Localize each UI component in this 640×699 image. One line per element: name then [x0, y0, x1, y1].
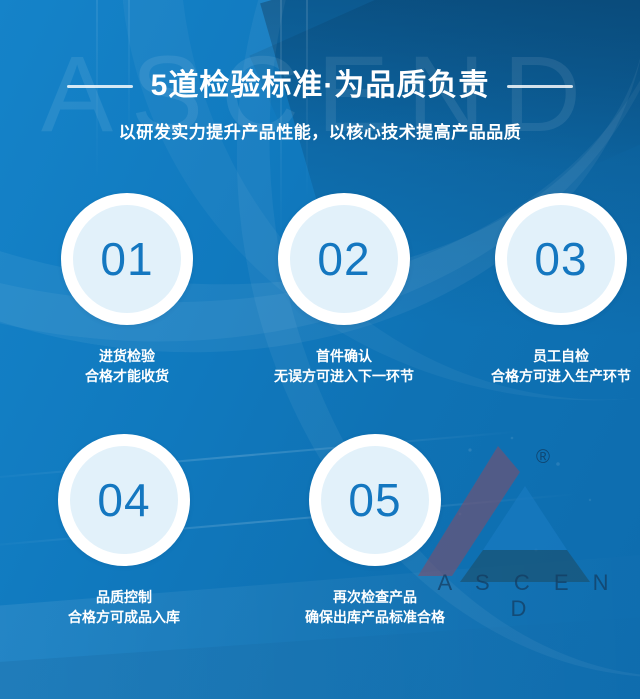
step-label-line2-02: 无误方可进入下一环节	[274, 366, 414, 386]
step-card-03: 03 员工自检 合格方可进入生产环节	[482, 193, 640, 386]
step-label-line1-02: 首件确认	[274, 346, 414, 366]
step-circle-04: 04	[58, 434, 190, 566]
ascend-wordmark: A S C E N D	[412, 570, 634, 622]
step-number-02: 02	[317, 236, 370, 282]
step-circle-05: 05	[309, 434, 441, 566]
step-label-line2-03: 合格方可进入生产环节	[491, 366, 631, 386]
header-block: 5道检验标准·为品质负责 以研发实力提升产品性能，以核心技术提高产品品质	[0, 66, 640, 143]
step-card-01: 01 进货检验 合格才能收货	[48, 193, 206, 386]
title-rule-right	[507, 85, 573, 88]
step-circle-inner-05: 05	[321, 446, 429, 554]
step-label-01: 进货检验 合格才能收货	[85, 346, 169, 386]
step-label-line1-04: 品质控制	[68, 587, 180, 607]
step-circle-inner-03: 03	[507, 205, 615, 313]
step-label-line2-04: 合格方可成品入库	[68, 607, 180, 627]
step-label-line2-01: 合格才能收货	[85, 366, 169, 386]
steps-row-1: 01 进货检验 合格才能收货 02 首件确认 无误方可进入下一环节	[0, 193, 640, 386]
step-number-03: 03	[534, 236, 587, 282]
title-row: 5道检验标准·为品质负责	[0, 66, 640, 106]
step-number-05: 05	[348, 477, 401, 523]
step-card-04: 04 品质控制 合格方可成品入库	[28, 434, 220, 627]
step-circle-inner-02: 02	[290, 205, 398, 313]
step-card-02: 02 首件确认 无误方可进入下一环节	[265, 193, 423, 386]
page-title: 5道检验标准·为品质负责	[151, 66, 490, 106]
step-label-line1-01: 进货检验	[85, 346, 169, 366]
steps-grid: 01 进货检验 合格才能收货 02 首件确认 无误方可进入下一环节	[0, 193, 640, 627]
step-circle-inner-04: 04	[70, 446, 178, 554]
step-label-02: 首件确认 无误方可进入下一环节	[274, 346, 414, 386]
step-circle-01: 01	[61, 193, 193, 325]
registered-trademark-icon: ®	[536, 448, 550, 467]
page-subtitle: 以研发实力提升产品性能，以核心技术提高产品品质	[0, 118, 640, 143]
step-label-04: 品质控制 合格方可成品入库	[68, 587, 180, 627]
step-circle-02: 02	[278, 193, 410, 325]
step-number-04: 04	[97, 477, 150, 523]
step-circle-inner-01: 01	[73, 205, 181, 313]
promo-banner: ASCEND 5道检验标准·为品质负责 以研发实力提升产品性能，以核心技术提高产…	[0, 0, 640, 699]
step-circle-03: 03	[495, 193, 627, 325]
step-number-01: 01	[100, 236, 153, 282]
title-rule-left	[67, 85, 133, 88]
step-label-line1-03: 员工自检	[491, 346, 631, 366]
step-label-03: 员工自检 合格方可进入生产环节	[491, 346, 631, 386]
